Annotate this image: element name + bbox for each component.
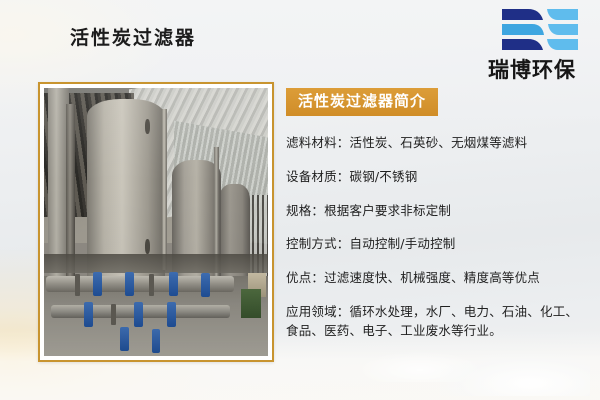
brand-logo: 瑞博环保	[470, 8, 594, 84]
info-panel-heading: 活性炭过滤器简介	[286, 88, 438, 116]
spec-row-material: 设备材质：碳钢/不锈钢	[286, 168, 582, 187]
ribo-logo-mark-icon	[502, 8, 578, 52]
product-photo	[44, 88, 268, 356]
photo-overlay-haze	[44, 88, 268, 356]
spec-row-applications: 应用领域：循环水处理，水厂、电力、石油、化工、食品、医药、电子、工业废水等行业。	[286, 303, 582, 341]
spec-row-specification: 规格：根据客户要求非标定制	[286, 202, 582, 221]
spec-row-advantages: 优点：过滤速度快、机械强度、精度高等优点	[286, 269, 582, 288]
page-title: 活性炭过滤器	[70, 23, 196, 50]
info-panel: 活性炭过滤器简介 滤料材料：活性炭、石英砂、无烟煤等滤料 设备材质：碳钢/不锈钢…	[286, 88, 582, 340]
spec-row-filter-media: 滤料材料：活性炭、石英砂、无烟煤等滤料	[286, 134, 582, 153]
spec-row-control-mode: 控制方式：自动控制/手动控制	[286, 235, 582, 254]
background-cloud-primary	[440, 354, 590, 396]
product-photo-frame	[38, 82, 274, 362]
brand-name: 瑞博环保	[470, 54, 594, 84]
slide-canvas: 活性炭过滤器 瑞博环保	[0, 0, 600, 400]
spec-list: 滤料材料：活性炭、石英砂、无烟煤等滤料 设备材质：碳钢/不锈钢 规格：根据客户要…	[286, 134, 582, 340]
